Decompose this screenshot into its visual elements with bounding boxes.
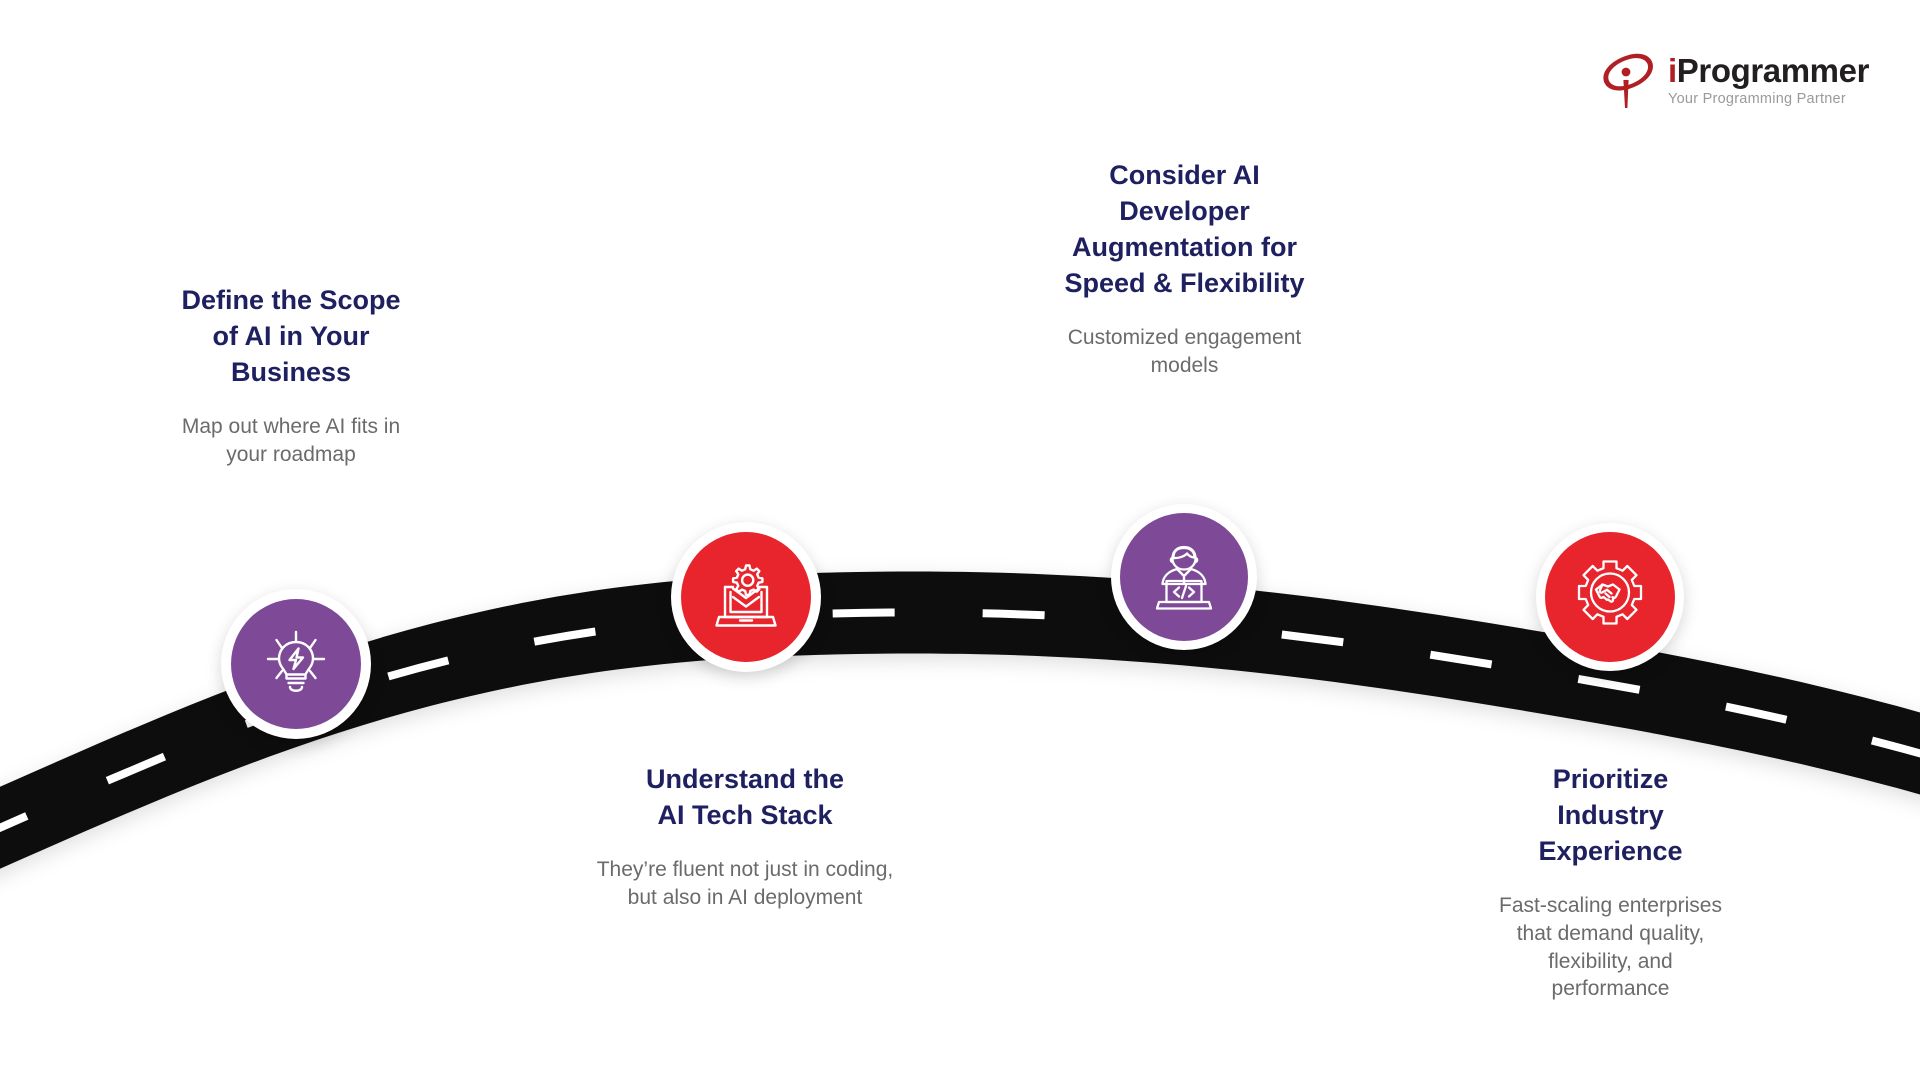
- step-4-circle: [1545, 532, 1675, 662]
- step-3-text: Consider AI Developer Augmentation for S…: [1028, 158, 1341, 379]
- step-2-title: Understand the AI Tech Stack: [560, 762, 930, 834]
- brand-name-prefix: i: [1668, 52, 1677, 89]
- iprogrammer-orbit-logo-icon: [1600, 50, 1658, 110]
- laptop-gear-stack-icon: [706, 557, 786, 637]
- step-2-text: Understand the AI Tech Stack They’re flu…: [560, 762, 930, 912]
- step-3-node[interactable]: [1111, 504, 1257, 650]
- brand-name: iProgrammer: [1668, 54, 1869, 87]
- step-2-node[interactable]: [671, 522, 821, 672]
- step-3-circle: [1120, 513, 1248, 641]
- brand-logo[interactable]: iProgrammer Your Programming Partner: [1600, 46, 1870, 114]
- step-1-text: Define the Scope of AI in Your Business …: [130, 283, 452, 469]
- step-1-title: Define the Scope of AI in Your Business: [130, 283, 452, 391]
- gear-handshake-icon: [1569, 556, 1651, 638]
- lightbulb-bolt-icon: [257, 625, 335, 703]
- step-2-circle: [681, 532, 811, 662]
- step-3-subtitle: Customized engagement models: [1028, 324, 1341, 380]
- brand-text: iProgrammer Your Programming Partner: [1668, 54, 1869, 107]
- step-1-subtitle: Map out where AI fits in your roadmap: [130, 413, 452, 469]
- brand-name-rest: Programmer: [1677, 52, 1869, 89]
- step-4-title: Prioritize Industry Experience: [1478, 762, 1743, 870]
- step-1-circle: [231, 599, 361, 729]
- infographic-canvas: iProgrammer Your Programming Partner Def…: [0, 0, 1920, 1080]
- step-4-subtitle: Fast-scaling enterprises that demand qua…: [1478, 892, 1743, 1004]
- step-3-title: Consider AI Developer Augmentation for S…: [1028, 158, 1341, 302]
- step-2-subtitle: They’re fluent not just in coding, but a…: [560, 856, 930, 912]
- developer-laptop-code-icon: [1144, 537, 1224, 617]
- brand-tagline: Your Programming Partner: [1668, 92, 1869, 107]
- step-4-node[interactable]: [1536, 523, 1684, 671]
- step-4-text: Prioritize Industry Experience Fast-scal…: [1478, 762, 1743, 1003]
- step-1-node[interactable]: [221, 589, 371, 739]
